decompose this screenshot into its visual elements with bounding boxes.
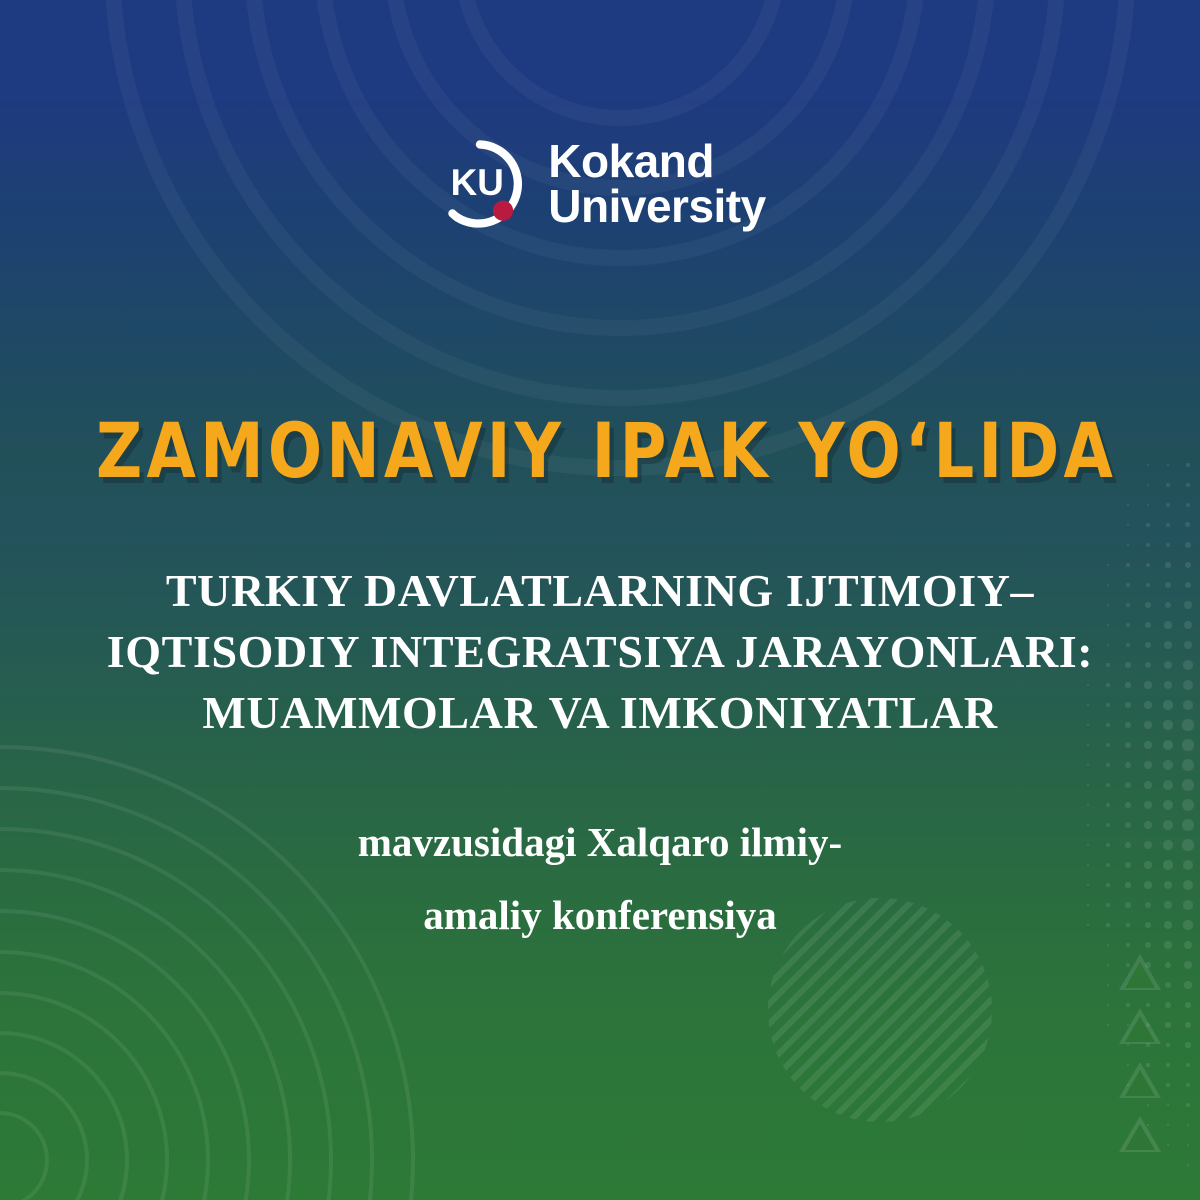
wordmark-line-1: Kokand <box>548 139 765 184</box>
event-line-2: amaliy konferensiya <box>120 879 1080 952</box>
ku-circle-monogram-icon: KU <box>434 138 526 230</box>
subtitle-line-1: TURKIY DAVLATLARNING IJTIMOIY– <box>90 560 1110 621</box>
wordmark-line-2: University <box>548 184 765 229</box>
subtitle-line-3: MUAMMOLAR VA IMKONIYATLAR <box>90 682 1110 743</box>
event-line-1: mavzusidagi Xalqaro ilmiy- <box>120 806 1080 879</box>
subtitle-line-2: IQTISODIY INTEGRATSIYA JARAYONLARI: <box>90 621 1110 682</box>
poster-event-type: mavzusidagi Xalqaro ilmiy- amaliy konfer… <box>120 806 1080 952</box>
conference-poster: KU Kokand University ZAMONAVIY IPAK YOʻL… <box>0 0 1200 1200</box>
university-wordmark: Kokand University <box>548 139 765 229</box>
poster-subtitle: TURKIY DAVLATLARNING IJTIMOIY– IQTISODIY… <box>90 560 1110 744</box>
poster-main-title: ZAMONAVIY IPAK YOʻLIDA <box>96 406 1104 495</box>
monogram-text: KU <box>451 162 504 203</box>
university-logo: KU Kokand University <box>0 138 1200 230</box>
